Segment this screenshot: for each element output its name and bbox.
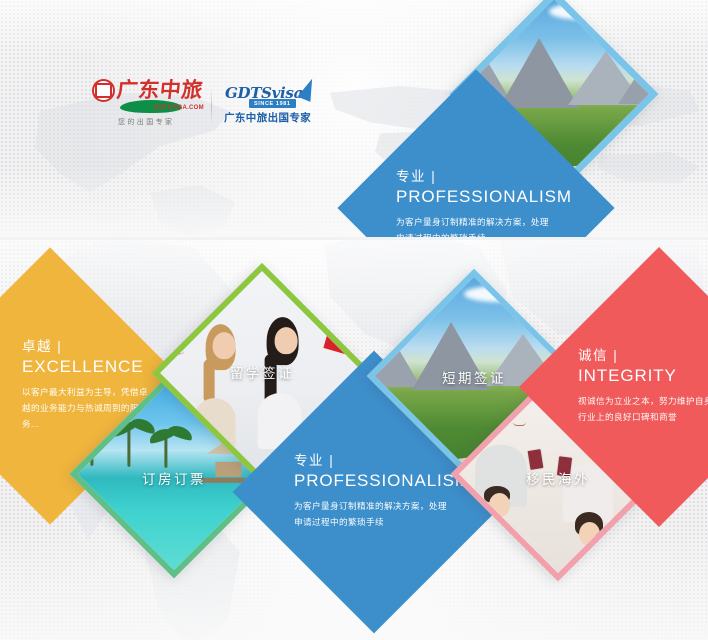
value-title-en: EXCELLENCE xyxy=(22,356,143,378)
logo-divider xyxy=(211,88,212,124)
value-title-cn: 专业 | xyxy=(294,453,334,470)
value-title-cn: 诚信 | xyxy=(578,348,618,365)
value-description: 视诚信为立业之本，努力维护自身在行业上的良好口碑和商誉 xyxy=(578,394,708,426)
gdtsvisa-logo[interactable]: GDTSvisa SINCE 1981 广东中旅出国专家 xyxy=(223,78,319,130)
slide-canvas: 广东中旅 GDTSVISA.COM 您的出国专家 GDTSvisa SINCE … xyxy=(0,0,708,640)
top-panel: 广东中旅 GDTSVISA.COM 您的出国专家 GDTSvisa SINCE … xyxy=(0,0,708,237)
value-title-cn: 卓越 | xyxy=(22,339,62,356)
logo-url-text: GDTSVISA.COM xyxy=(154,105,204,111)
value-title-en: INTEGRITY xyxy=(578,365,677,387)
logo-visa-cn-text: 广东中旅出国专家 xyxy=(224,110,311,125)
seal-icon xyxy=(92,79,115,102)
value-description: 为客户量身订制精准的解决方案，处理申请过程中的繁琐手续 xyxy=(396,215,554,237)
brand-logo-lockup[interactable]: 广东中旅 GDTSVISA.COM 您的出国专家 GDTSvisa SINCE … xyxy=(92,74,319,130)
service-label: 订房订票 xyxy=(100,468,248,488)
value-title-en: PROFESSIONALISM xyxy=(294,470,470,492)
value-description: 为客户量身订制精准的解决方案，处理申请过程中的繁琐手续 xyxy=(294,499,452,531)
logo-slogan-text: 您的出国专家 xyxy=(118,117,174,127)
pen-nib-icon xyxy=(297,76,318,102)
value-title-cn: 专业 | xyxy=(396,169,436,186)
main-panel: 卓越 | EXCELLENCE 以客户最大利益为主导，凭借卓越的业务能力与热诚周… xyxy=(0,240,708,640)
value-title-en: PROFESSIONALISM xyxy=(396,186,572,208)
gdts-logo[interactable]: 广东中旅 GDTSVISA.COM 您的出国专家 xyxy=(92,74,200,130)
logo-since-badge: SINCE 1981 xyxy=(249,99,296,108)
service-label: 留学签证 xyxy=(184,362,340,382)
